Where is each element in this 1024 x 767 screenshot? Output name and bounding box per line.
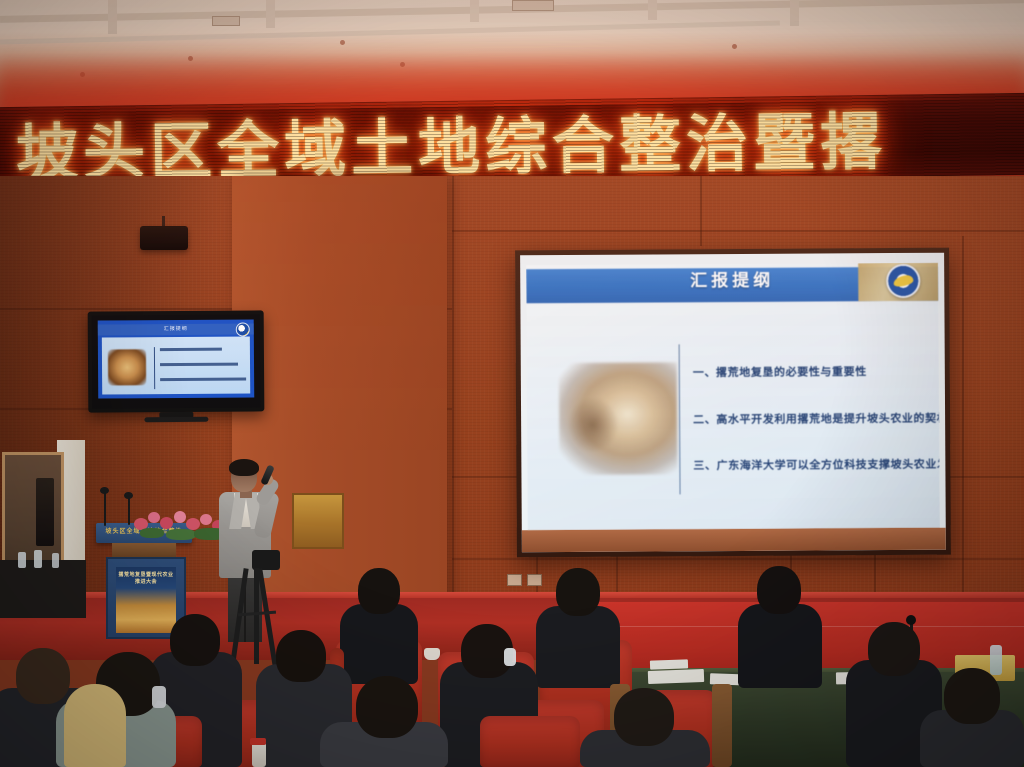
- tv-slide-logo-icon: [236, 322, 250, 336]
- tv-slide-line: [160, 378, 246, 382]
- tv-slide-line: [160, 348, 222, 351]
- ceiling-beam-vertical: [470, 0, 479, 22]
- presenter-hair: [229, 459, 259, 476]
- camera-tripod-head: [252, 550, 280, 570]
- ceiling-speaker-box: [140, 226, 188, 250]
- ceiling-beam-vertical: [266, 0, 275, 28]
- lectern-poster: 撂荒地复垦暨现代农业推进大会: [116, 567, 176, 633]
- ceiling-beam-vertical: [108, 0, 117, 34]
- wall-panel-seam: [452, 230, 1024, 232]
- audience-head: [358, 568, 400, 614]
- audience-head: [614, 688, 674, 746]
- slide-photo-grain: [559, 362, 678, 475]
- audience-head: [757, 566, 801, 614]
- audience-head: [356, 676, 418, 738]
- wall-panel-seam: [452, 558, 1024, 560]
- tv-slide-photo: [108, 349, 146, 385]
- document-paper[interactable]: [650, 659, 688, 669]
- table-microphone-head: [906, 615, 916, 625]
- bottle-cap: [250, 738, 266, 745]
- ceiling-beam: [0, 20, 780, 44]
- podium-microphone-head: [100, 487, 109, 494]
- slide-outline-item-3: 三、广东海洋大学可以全方位科技支撑坡头农业发展: [693, 456, 939, 474]
- tripod-leg: [254, 568, 259, 664]
- wall-panel-seam: [700, 176, 702, 246]
- tv-slide-divider: [154, 347, 155, 389]
- audience-head: [868, 622, 920, 676]
- slide-divider-line: [679, 344, 681, 494]
- wall-speaker: [36, 478, 54, 546]
- glass: [18, 552, 26, 568]
- chair-armrest: [712, 684, 732, 767]
- led-banner: 坡头区全域土地综合整治暨撂: [0, 93, 1024, 189]
- wall-panel-seam: [452, 176, 454, 624]
- audience-head: [556, 568, 600, 616]
- ceiling-beam-vertical: [648, 0, 657, 20]
- flower: [160, 517, 173, 529]
- presentation-slide: 汇报提纲 一、撂荒地复垦的必要性与重要性 二、高水平开发利用撂荒地是提升坡头农业…: [526, 263, 940, 531]
- audience-torso: [738, 604, 822, 688]
- flower: [174, 511, 186, 523]
- tv-slide-body: [102, 336, 250, 394]
- face-mask: [152, 686, 166, 708]
- podium-microphone-stem: [104, 492, 106, 526]
- lectern-poster-label: 撂荒地复垦暨现代农业推进大会: [116, 572, 176, 586]
- tv-base: [144, 417, 208, 422]
- audience-torso: [536, 606, 620, 688]
- audience-head: [170, 614, 220, 666]
- ceiling-vent: [212, 16, 240, 26]
- screen-surface: 汇报提纲 一、撂荒地复垦的必要性与重要性 二、高水平开发利用撂荒地是提升坡头农业…: [520, 253, 946, 553]
- slide-outline-item-2: 二、高水平开发利用撂荒地是提升坡头农业的契机: [693, 410, 940, 428]
- glass: [52, 553, 59, 568]
- wall-tv-monitor[interactable]: 汇报提纲: [88, 310, 265, 412]
- wall-decor-panel: [292, 493, 344, 549]
- audience-head: [944, 668, 1000, 724]
- audience-torso: [340, 604, 418, 684]
- water-bottle: [252, 742, 266, 767]
- tv-screen: 汇报提纲: [98, 319, 255, 398]
- foliage: [140, 528, 164, 538]
- audience-head: [276, 630, 326, 682]
- slide-outline-item-1: 一、撂荒地复垦的必要性与重要性: [693, 363, 867, 380]
- projection-screen: 汇报提纲 一、撂荒地复垦的必要性与重要性 二、高水平开发利用撂荒地是提升坡头农业…: [515, 248, 951, 558]
- side-table: [0, 560, 86, 618]
- flower: [148, 512, 160, 523]
- audience-hair-light: [64, 684, 126, 767]
- conference-hall-photo: 坡头区全域土地综合整治暨撂 汇报提纲: [0, 0, 1024, 767]
- ceiling-fixture: [732, 44, 737, 49]
- ceiling-beam-vertical: [790, 0, 799, 26]
- water-bottle: [990, 645, 1002, 675]
- ceiling-vent: [512, 0, 554, 11]
- document-paper[interactable]: [648, 669, 704, 684]
- slide-title: 汇报提纲: [526, 263, 938, 300]
- glass: [34, 550, 42, 568]
- wall-outlet: [527, 574, 542, 586]
- wall-panel-seam: [962, 236, 964, 624]
- university-logo-icon: [886, 264, 920, 298]
- audience-head: [16, 648, 70, 704]
- flower: [200, 514, 212, 525]
- tv-slide-title: 汇报提纲: [164, 324, 188, 335]
- tv-slide-line: [160, 363, 238, 367]
- chair[interactable]: [480, 716, 580, 767]
- ceiling-fixture: [340, 40, 345, 45]
- screen-lower-edge: [522, 528, 946, 553]
- led-banner-text: 坡头区全域土地综合整治暨撂: [15, 93, 887, 189]
- foliage: [166, 529, 196, 540]
- ceiling: [0, 0, 1024, 108]
- wall-outlet: [507, 574, 522, 586]
- podium-microphone-head: [124, 492, 133, 499]
- face-mask: [504, 648, 516, 666]
- lectern-column: [112, 543, 176, 557]
